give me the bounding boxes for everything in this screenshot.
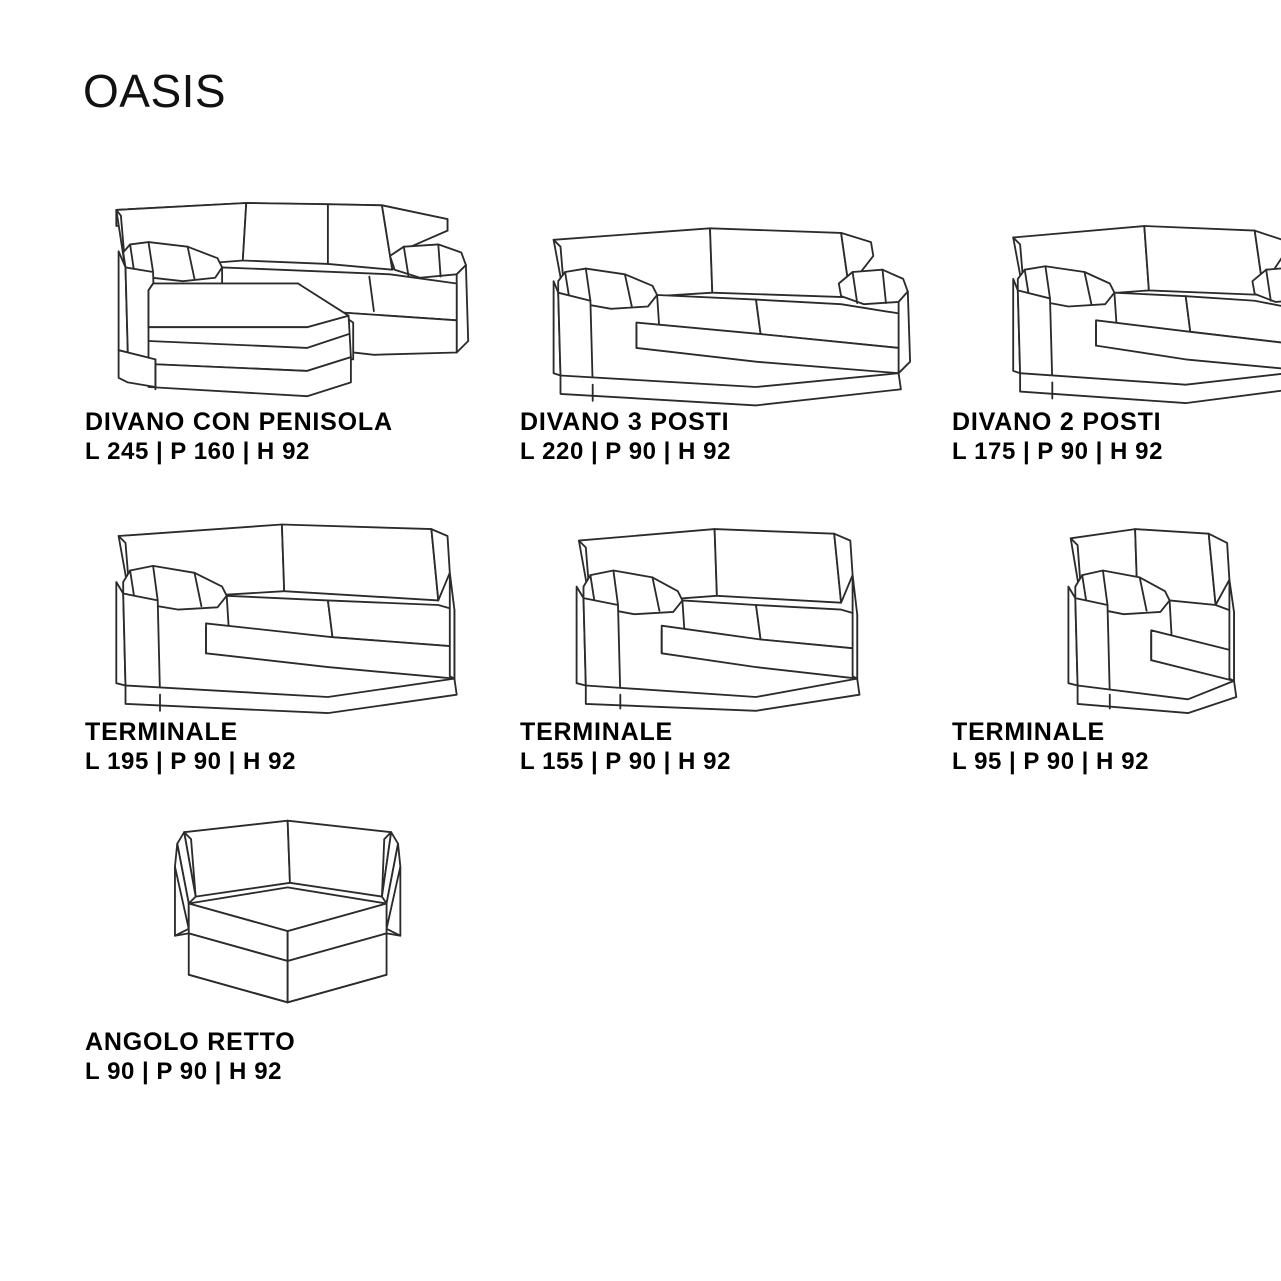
product-caption: ANGOLO RETTO L 90|P 90|H 92 [85, 1028, 513, 1087]
dimension-length: L 90 [85, 1058, 135, 1085]
dimension-length: L 95 [952, 748, 1002, 775]
dimension-separator: | [1016, 438, 1037, 465]
product-card-terminale-155[interactable]: TERMINALE L 155|P 90|H 92 [518, 490, 948, 800]
dimension-separator: | [657, 748, 678, 775]
dimension-separator: | [135, 1058, 156, 1085]
sectional-sofa-with-chaise-icon [83, 180, 513, 410]
dimension-depth: P 90 [156, 1058, 207, 1085]
dimension-depth: P 90 [605, 748, 656, 775]
product-dimensions: L 155|P 90|H 92 [520, 748, 948, 777]
product-card-divano-2-posti[interactable]: DIVANO 2 POSTI L 175|P 90|H 92 [950, 180, 1281, 490]
three-seat-sofa-icon [518, 180, 948, 410]
dimension-depth: P 90 [1037, 438, 1088, 465]
product-card-divano-3-posti[interactable]: DIVANO 3 POSTI L 220|P 90|H 92 [518, 180, 948, 490]
dimension-depth: P 160 [170, 438, 235, 465]
dimension-separator: | [1089, 438, 1110, 465]
product-caption: TERMINALE L 195|P 90|H 92 [85, 718, 513, 777]
terminal-unit-medium-icon [518, 490, 948, 720]
product-name: DIVANO 2 POSTI [952, 408, 1281, 436]
terminal-unit-large-icon [83, 490, 513, 720]
dimension-depth: P 90 [605, 438, 656, 465]
product-dimensions: L 245|P 160|H 92 [85, 438, 513, 467]
dimension-length: L 195 [85, 748, 149, 775]
page-title: OASIS [83, 68, 226, 114]
two-seat-sofa-icon [950, 180, 1281, 410]
product-card-angolo-retto[interactable]: ANGOLO RETTO L 90|P 90|H 92 [83, 800, 513, 1110]
product-grid: DIVANO CON PENISOLA L 245|P 160|H 92 [0, 180, 1281, 1110]
dimension-depth: P 90 [1023, 748, 1074, 775]
dimension-height: H 92 [1110, 438, 1163, 465]
product-dimensions: L 195|P 90|H 92 [85, 748, 513, 777]
terminal-unit-small-icon [950, 490, 1281, 720]
dimension-height: H 92 [257, 438, 310, 465]
product-row: ANGOLO RETTO L 90|P 90|H 92 [0, 800, 1281, 1110]
dimension-height: H 92 [229, 1058, 282, 1085]
dimension-separator: | [208, 1058, 229, 1085]
dimension-height: H 92 [678, 748, 731, 775]
product-card-terminale-95[interactable]: TERMINALE L 95|P 90|H 92 [950, 490, 1281, 800]
dimension-height: H 92 [243, 748, 296, 775]
product-name: TERMINALE [520, 718, 948, 746]
product-name: TERMINALE [952, 718, 1281, 746]
product-dimensions: L 95|P 90|H 92 [952, 748, 1281, 777]
catalog-page: OASIS [0, 0, 1281, 1281]
dimension-length: L 220 [520, 438, 584, 465]
product-caption: DIVANO 2 POSTI L 175|P 90|H 92 [952, 408, 1281, 467]
square-corner-unit-icon [83, 800, 513, 1030]
dimension-length: L 245 [85, 438, 149, 465]
dimension-separator: | [584, 438, 605, 465]
product-card-divano-con-penisola[interactable]: DIVANO CON PENISOLA L 245|P 160|H 92 [83, 180, 513, 490]
product-card-terminale-195[interactable]: TERMINALE L 195|P 90|H 92 [83, 490, 513, 800]
product-dimensions: L 90|P 90|H 92 [85, 1058, 513, 1087]
product-row: DIVANO CON PENISOLA L 245|P 160|H 92 [0, 180, 1281, 490]
product-dimensions: L 220|P 90|H 92 [520, 438, 948, 467]
product-dimensions: L 175|P 90|H 92 [952, 438, 1281, 467]
dimension-height: H 92 [678, 438, 731, 465]
dimension-depth: P 90 [170, 748, 221, 775]
dimension-length: L 175 [952, 438, 1016, 465]
dimension-length: L 155 [520, 748, 584, 775]
product-row: TERMINALE L 195|P 90|H 92 [0, 490, 1281, 800]
product-name: TERMINALE [85, 718, 513, 746]
dimension-separator: | [584, 748, 605, 775]
product-caption: DIVANO 3 POSTI L 220|P 90|H 92 [520, 408, 948, 467]
product-name: ANGOLO RETTO [85, 1028, 513, 1056]
dimension-separator: | [222, 748, 243, 775]
dimension-separator: | [236, 438, 257, 465]
product-name: DIVANO CON PENISOLA [85, 408, 513, 436]
dimension-separator: | [1002, 748, 1023, 775]
dimension-separator: | [149, 438, 170, 465]
product-caption: TERMINALE L 155|P 90|H 92 [520, 718, 948, 777]
product-caption: TERMINALE L 95|P 90|H 92 [952, 718, 1281, 777]
product-name: DIVANO 3 POSTI [520, 408, 948, 436]
dimension-height: H 92 [1096, 748, 1149, 775]
dimension-separator: | [657, 438, 678, 465]
product-caption: DIVANO CON PENISOLA L 245|P 160|H 92 [85, 408, 513, 467]
dimension-separator: | [1075, 748, 1096, 775]
dimension-separator: | [149, 748, 170, 775]
